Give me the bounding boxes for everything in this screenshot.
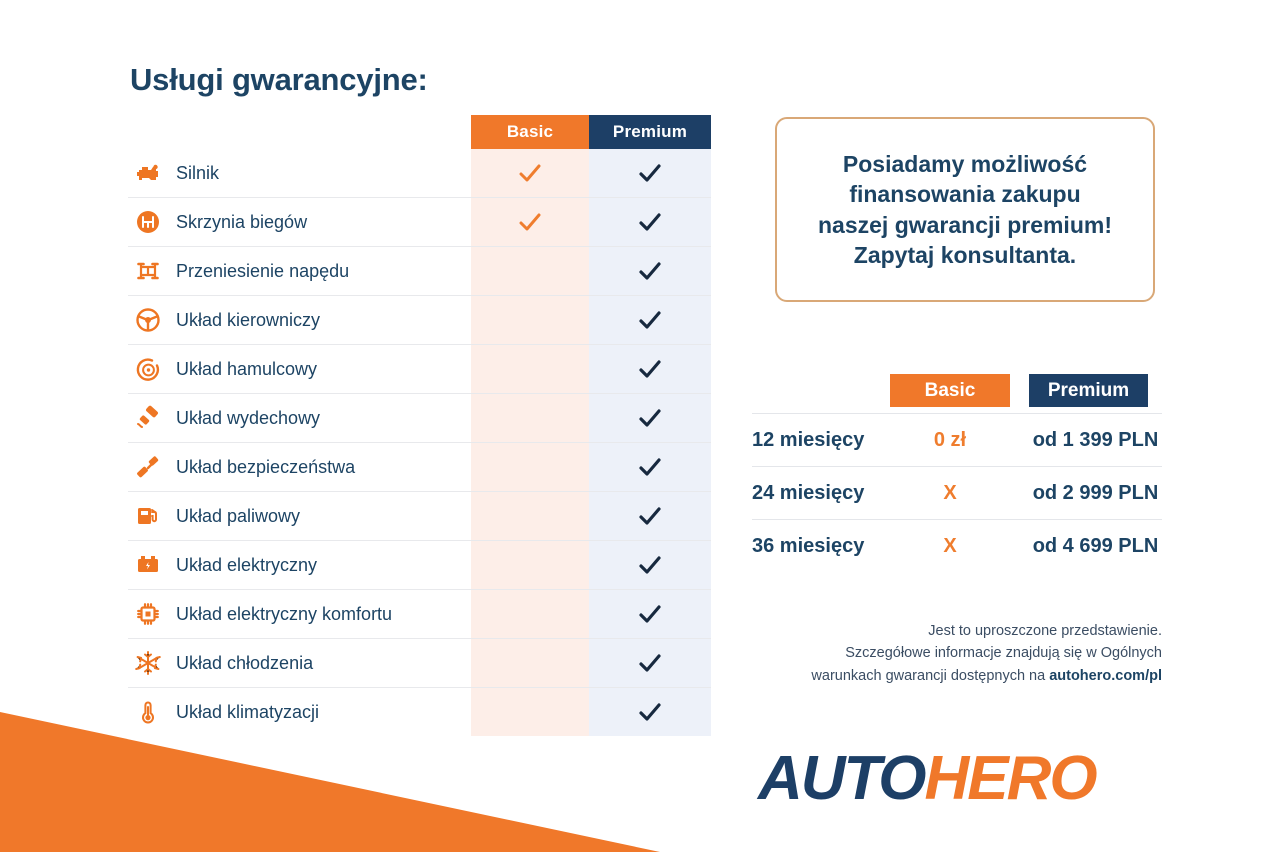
table-row: Przeniesienie napędu: [128, 247, 711, 296]
financing-line-1: Posiadamy możliwość: [843, 151, 1087, 177]
battery-icon: [128, 541, 168, 589]
pricing-header-spacer: [752, 374, 890, 407]
pricing-row: 36 miesięcy X od 4 699 PLN: [752, 519, 1162, 572]
brake-disc-icon: [128, 345, 168, 393]
basic-empty-cell: [471, 590, 589, 638]
warranty-services-infographic: Usługi gwarancyjne: Basic Premium Silnik: [0, 0, 1280, 852]
seatbelt-icon: [128, 443, 168, 491]
financing-line-3: naszej gwarancji premium!: [818, 212, 1112, 238]
table-row: Układ paliwowy: [128, 492, 711, 541]
basic-empty-cell: [471, 394, 589, 442]
premium-check-icon: [589, 394, 711, 442]
service-label: Układ bezpieczeństwa: [168, 457, 471, 478]
basic-check-icon: [471, 198, 589, 246]
services-comparison-table: Basic Premium Silnik: [128, 115, 711, 736]
services-table-header: Basic Premium: [128, 115, 711, 149]
basic-check-icon: [471, 149, 589, 197]
pricing-premium-value: od 1 399 PLN: [1029, 429, 1162, 452]
table-row: Skrzynia biegów: [128, 198, 711, 247]
engine-icon: [128, 149, 168, 197]
basic-empty-cell: [471, 492, 589, 540]
premium-check-icon: [589, 149, 711, 197]
premium-check-icon: [589, 590, 711, 638]
premium-check-icon: [589, 639, 711, 687]
service-label: Układ chłodzenia: [168, 653, 471, 674]
drivetrain-icon: [128, 247, 168, 295]
table-row: Układ elektryczny: [128, 541, 711, 590]
service-label: Układ kierowniczy: [168, 310, 471, 331]
service-label: Skrzynia biegów: [168, 212, 471, 233]
premium-check-icon: [589, 247, 711, 295]
disclaimer-line-2: Szczegółowe informacje znajdują się w Og…: [845, 645, 1162, 661]
service-label: Układ paliwowy: [168, 506, 471, 527]
pricing-basic-value: X: [890, 482, 1010, 505]
table-row: Układ bezpieczeństwa: [128, 443, 711, 492]
basic-empty-cell: [471, 345, 589, 393]
fuel-pump-icon: [128, 492, 168, 540]
service-label: Układ elektryczny: [168, 555, 471, 576]
autohero-website-link[interactable]: autohero.com/pl: [1049, 668, 1162, 684]
premium-check-icon: [589, 688, 711, 736]
pricing-basic-value: 0 zł: [890, 429, 1010, 452]
exhaust-icon: [128, 394, 168, 442]
table-row: Układ chłodzenia: [128, 639, 711, 688]
pricing-basic-value: X: [890, 535, 1010, 558]
table-row: Układ klimatyzacji: [128, 688, 711, 736]
snowflake-icon: [128, 639, 168, 687]
service-label: Układ hamulcowy: [168, 359, 471, 380]
service-label: Układ klimatyzacji: [168, 702, 471, 723]
pricing-premium-value: od 2 999 PLN: [1029, 482, 1162, 505]
premium-check-icon: [589, 345, 711, 393]
logo-auto-part: AUTO: [758, 744, 925, 813]
thermometer-icon: [128, 688, 168, 736]
steering-wheel-icon: [128, 296, 168, 344]
pricing-premium-value: od 4 699 PLN: [1029, 535, 1162, 558]
financing-line-4: Zapytaj konsultanta.: [854, 242, 1076, 268]
page-title: Usługi gwarancyjne:: [130, 62, 428, 98]
premium-check-icon: [589, 296, 711, 344]
pricing-table: Basic Premium 12 miesięcy 0 zł od 1 399 …: [752, 374, 1162, 572]
pricing-column-header-basic: Basic: [890, 374, 1010, 407]
basic-empty-cell: [471, 443, 589, 491]
pricing-period: 36 miesięcy: [752, 535, 890, 558]
financing-callout-text: Posiadamy możliwość finansowania zakupu …: [804, 149, 1126, 270]
table-row: Układ kierowniczy: [128, 296, 711, 345]
disclaimer-line-1: Jest to uproszczone przedstawienie.: [928, 623, 1162, 639]
service-label: Przeniesienie napędu: [168, 261, 471, 282]
column-header-basic: Basic: [471, 115, 589, 149]
basic-empty-cell: [471, 541, 589, 589]
table-row: Układ elektryczny komfortu: [128, 590, 711, 639]
financing-callout-box: Posiadamy możliwość finansowania zakupu …: [775, 117, 1155, 302]
pricing-period: 24 miesięcy: [752, 482, 890, 505]
gearbox-icon: [128, 198, 168, 246]
column-header-premium: Premium: [589, 115, 711, 149]
autohero-logo: AUTOHERO: [758, 748, 1096, 810]
pricing-column-header-premium: Premium: [1029, 374, 1148, 407]
basic-empty-cell: [471, 688, 589, 736]
basic-empty-cell: [471, 296, 589, 344]
financing-line-2: finansowania zakupu: [849, 181, 1080, 207]
pricing-period: 12 miesięcy: [752, 429, 890, 452]
service-label: Silnik: [168, 163, 471, 184]
premium-check-icon: [589, 443, 711, 491]
table-row: Układ hamulcowy: [128, 345, 711, 394]
disclaimer-line-3-prefix: warunkach gwarancji dostępnych na: [811, 668, 1049, 684]
service-label: Układ wydechowy: [168, 408, 471, 429]
services-table-body: Silnik Skrzynia biegów: [128, 149, 711, 736]
basic-empty-cell: [471, 247, 589, 295]
pricing-table-header: Basic Premium: [752, 374, 1162, 407]
table-row: Układ wydechowy: [128, 394, 711, 443]
table-row: Silnik: [128, 149, 711, 198]
premium-check-icon: [589, 541, 711, 589]
premium-check-icon: [589, 198, 711, 246]
service-label: Układ elektryczny komfortu: [168, 604, 471, 625]
pricing-header-gap: [1010, 374, 1029, 407]
chip-icon: [128, 590, 168, 638]
pricing-row: 24 miesięcy X od 2 999 PLN: [752, 466, 1162, 519]
basic-empty-cell: [471, 639, 589, 687]
logo-hero-part: HERO: [925, 744, 1096, 813]
pricing-row: 12 miesięcy 0 zł od 1 399 PLN: [752, 413, 1162, 466]
premium-check-icon: [589, 492, 711, 540]
